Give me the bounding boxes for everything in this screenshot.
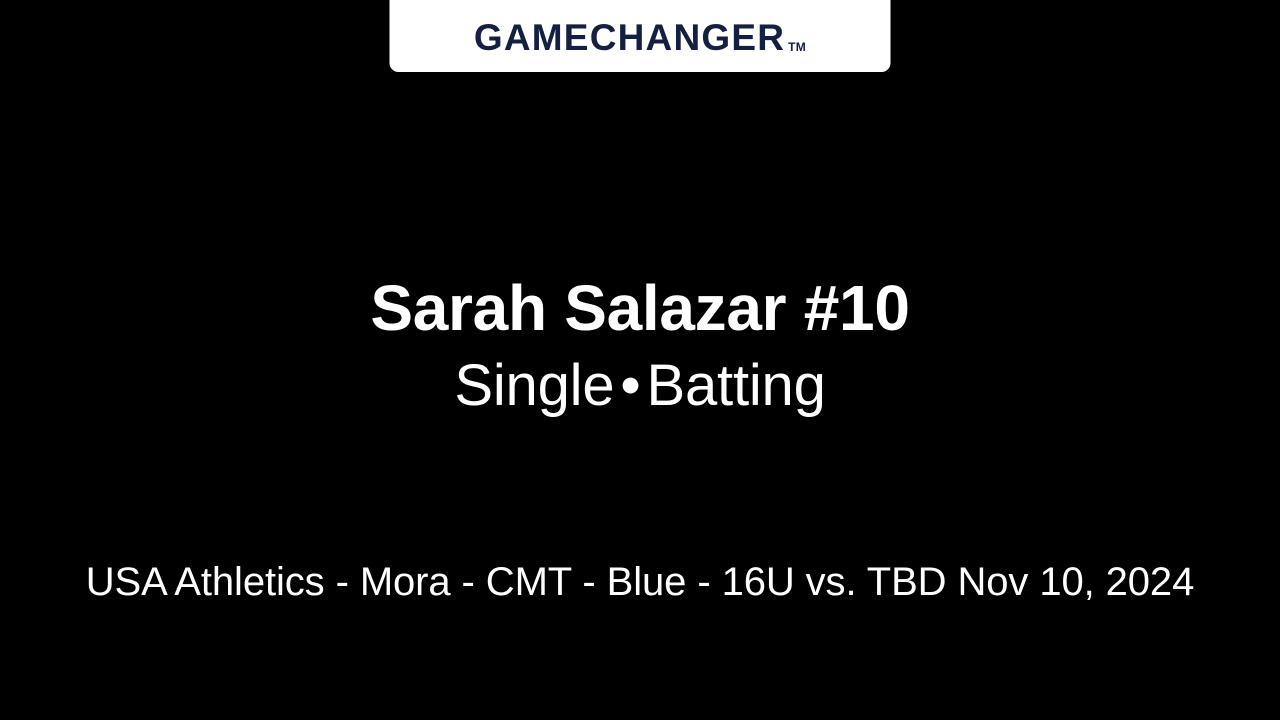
- game-caption-row: USA Athletics - Mora - CMT - Blue - 16U …: [0, 558, 1280, 606]
- highlight-info: Sarah Salazar #10 Single•Batting: [0, 274, 1280, 421]
- highlight-title-card: GAMECHANGER TM Sarah Salazar #10 Single•…: [0, 0, 1280, 720]
- play-description: Single•Batting: [0, 351, 1280, 421]
- bullet-separator-icon: •: [614, 351, 646, 421]
- gamechanger-logo-card: GAMECHANGER TM: [390, 0, 891, 72]
- game-caption: USA Athletics - Mora - CMT - Blue - 16U …: [0, 558, 1280, 606]
- play-type: Single: [454, 353, 614, 418]
- brand-wordmark: GAMECHANGER: [474, 19, 785, 56]
- gamechanger-logo: GAMECHANGER TM: [474, 19, 806, 56]
- play-context: Batting: [646, 353, 825, 418]
- trademark-mark: TM: [788, 41, 806, 53]
- player-name: Sarah Salazar #10: [0, 274, 1280, 343]
